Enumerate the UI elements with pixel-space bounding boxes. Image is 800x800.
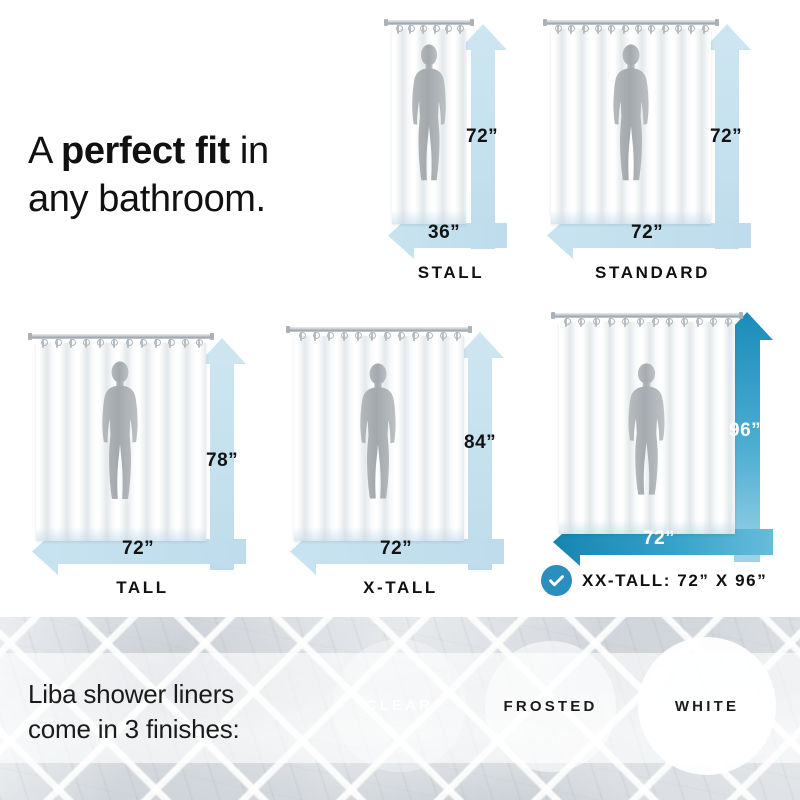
size-label-row-xx-tall: XX-TALL: 72” X 96” [541,565,767,596]
size-panel-tall[interactable]: 78” 72” TALL [30,320,255,600]
person-silhouette-stall [408,43,450,219]
height-value-standard: 72” [710,126,742,148]
width-value-stall: 36” [428,222,460,244]
banner-heading: Liba shower liners come in 3 finishes: [28,677,358,746]
diagram-area: A perfect fit in any bathroom. [0,0,800,617]
size-panel-standard[interactable]: 72” 72” STANDARD [545,10,760,285]
person-silhouette-tall [98,360,142,538]
size-panel-x-tall[interactable]: 84” 72” X-TALL [288,310,513,600]
selected-check-icon [541,565,572,596]
curtain-hooks-tall [36,339,206,348]
banner-line-2: come in 3 finishes: [28,712,358,747]
finish-option-white[interactable]: WHITE [638,637,776,775]
finishes-banner: Liba shower liners come in 3 finishes: C… [0,617,800,800]
page-title: A perfect fit in any bathroom. [28,128,378,224]
banner-line-1: Liba shower liners [28,677,358,712]
size-panel-stall[interactable]: 72” 36” STALL [386,10,516,285]
height-value-tall: 78” [206,450,238,472]
height-value-xx-tall: 96” [729,420,761,442]
headline-text-bold: perfect fit [61,130,230,172]
finish-option-frosted[interactable]: FROSTED [485,641,616,772]
person-silhouette-x-tall [356,362,400,537]
headline-line2: any bathroom. [28,178,266,220]
headline-text-b: in [230,130,269,172]
curtain-hooks-stall [392,25,466,34]
curtain-hooks-xx-tall [559,318,735,327]
headline-text-a: A [28,130,61,172]
finish-label-clear: CLEAR [366,697,434,714]
width-value-x-tall: 72” [380,538,412,560]
curtain-hooks-standard [551,25,711,34]
height-value-stall: 72” [466,126,498,148]
curtain-hooks-x-tall [294,332,464,341]
size-label-tall: TALL [30,578,255,598]
headline-line1: A perfect fit in [28,130,269,172]
person-silhouette-standard [609,43,653,219]
size-label-standard: STANDARD [545,263,760,283]
height-value-x-tall: 84” [464,432,496,454]
size-label-stall: STALL [386,263,516,283]
width-value-xx-tall: 72” [643,528,675,550]
size-panel-xx-tall[interactable]: 96” 72” XX-TALL: 72” X 96” [545,300,780,600]
width-value-standard: 72” [631,222,663,244]
size-label-x-tall: X-TALL [288,578,513,598]
person-silhouette-xx-tall [624,362,669,532]
finish-label-white: WHITE [675,698,739,715]
size-label-xx-tall: XX-TALL: 72” X 96” [582,571,767,591]
finish-label-frosted: FROSTED [503,698,597,715]
width-value-tall: 72” [122,538,154,560]
